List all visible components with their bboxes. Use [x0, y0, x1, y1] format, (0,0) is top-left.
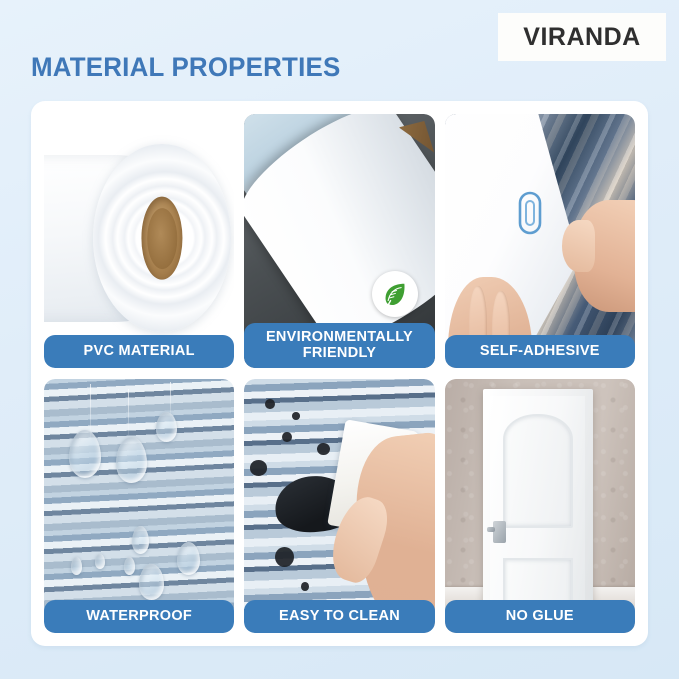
pvc-core-inner-shape — [147, 208, 177, 269]
door-panel-top-shape — [503, 414, 573, 528]
features-panel: PVC MATERIAL ENVIRONMENTALLY FRIENDLY — [31, 101, 648, 646]
feature-card-easy-to-clean[interactable]: EASY TO CLEAN — [244, 379, 434, 633]
water-droplet — [95, 554, 105, 569]
pvc-roll-image — [44, 114, 234, 368]
pvc-roll-shape — [93, 144, 230, 332]
feature-card-pvc-material[interactable]: PVC MATERIAL — [44, 114, 234, 368]
self-adhesive-image — [445, 114, 635, 368]
water-trail — [170, 382, 172, 418]
stain-spot — [317, 443, 330, 456]
water-droplet — [139, 564, 164, 600]
water-trail — [128, 389, 130, 435]
feature-label-self-adhesive: SELF-ADHESIVE — [445, 335, 635, 368]
no-glue-image — [445, 379, 635, 633]
water-droplet — [116, 437, 146, 483]
water-droplet — [69, 430, 101, 478]
green-leaf-icon — [372, 271, 418, 317]
water-droplet — [71, 557, 82, 575]
door-frame-shape — [483, 389, 593, 618]
door-handle-shape — [493, 521, 505, 543]
right-hand-shape — [574, 200, 635, 312]
water-droplet — [124, 557, 135, 575]
feature-card-no-glue[interactable]: NO GLUE — [445, 379, 635, 633]
striped-wood-shape — [44, 379, 234, 633]
feature-label-waterproof: WATERPROOF — [44, 600, 234, 633]
door-leaf-shape — [490, 396, 585, 615]
feature-label-easy-to-clean: EASY TO CLEAN — [244, 600, 434, 633]
stain-spot — [292, 412, 300, 420]
water-droplet — [132, 526, 149, 554]
feature-card-waterproof[interactable]: WATERPROOF — [44, 379, 234, 633]
feature-card-environmentally-friendly[interactable]: ENVIRONMENTALLY FRIENDLY — [244, 114, 434, 368]
waterproof-image — [44, 379, 234, 633]
brand-badge: VIRANDA — [498, 13, 666, 61]
feature-card-self-adhesive[interactable]: SELF-ADHESIVE — [445, 114, 635, 368]
feature-label-environmentally-friendly: ENVIRONMENTALLY FRIENDLY — [244, 323, 434, 368]
page-title: MATERIAL PROPERTIES — [31, 52, 340, 83]
feature-label-pvc-material: PVC MATERIAL — [44, 335, 234, 368]
features-grid: PVC MATERIAL ENVIRONMENTALLY FRIENDLY — [44, 114, 635, 633]
feature-label-line-1: ENVIRONMENTALLY — [248, 329, 430, 345]
water-droplet — [156, 412, 177, 442]
brand-name: VIRANDA — [523, 23, 640, 52]
easy-to-clean-image — [244, 379, 434, 633]
pvc-core-shape — [141, 197, 182, 280]
paperclip-icon — [517, 190, 543, 241]
feature-label-line-2: FRIENDLY — [248, 345, 430, 361]
stain-spot — [275, 547, 294, 567]
stain-spot — [250, 460, 267, 475]
feature-label-no-glue: NO GLUE — [445, 600, 635, 633]
